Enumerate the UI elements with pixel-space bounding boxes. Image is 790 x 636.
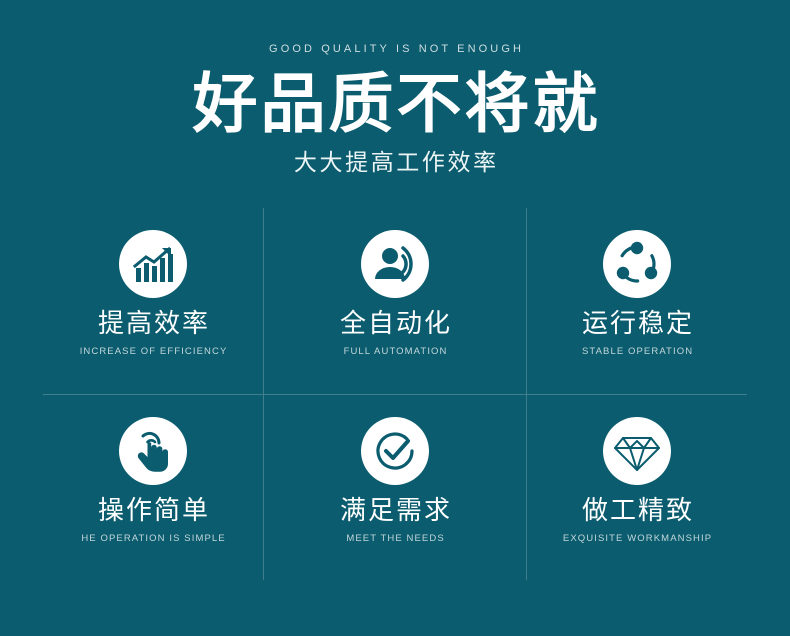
feature-subtitle: MEET THE NEEDS [264, 534, 526, 544]
feature-title: 满足需求 [264, 498, 526, 524]
feature-title: 操作简单 [43, 498, 263, 524]
feature-subtitle: EXQUISITE WORKMANSHIP [527, 534, 747, 544]
check-circle-icon [361, 417, 429, 485]
feature-subtitle: STABLE OPERATION [527, 347, 747, 357]
feature-title: 提高效率 [43, 311, 263, 337]
feature-subtitle: INCREASE OF EFFICIENCY [43, 347, 263, 357]
diamond-icon [603, 417, 671, 485]
page-title: 好品质不将就 [0, 72, 790, 138]
page-subtitle: 大大提高工作效率 [0, 152, 790, 175]
feature-item-stable-operation: 运行稳定 STABLE OPERATION [527, 208, 747, 394]
feature-grid: 提高效率 INCREASE OF EFFICIENCY 全自动化 FULL AU… [43, 208, 747, 580]
feature-subtitle: FULL AUTOMATION [264, 347, 526, 357]
feature-subtitle: HE OPERATION IS SIMPLE [43, 534, 263, 544]
feature-title: 运行稳定 [527, 311, 747, 337]
feature-item-full-automation: 全自动化 FULL AUTOMATION [264, 208, 526, 394]
eyebrow-text: GOOD QUALITY IS NOT ENOUGH [0, 44, 790, 55]
bar-chart-growth-icon [119, 230, 187, 298]
feature-title: 全自动化 [264, 311, 526, 337]
feature-item-increase-of-efficiency: 提高效率 INCREASE OF EFFICIENCY [43, 208, 263, 394]
feature-item-exquisite-workmanship: 做工精致 EXQUISITE WORKMANSHIP [527, 395, 747, 581]
banner-header: GOOD QUALITY IS NOT ENOUGH 好品质不将就 大大提高工作… [0, 0, 790, 175]
user-automation-icon [361, 230, 429, 298]
feature-title: 做工精致 [527, 498, 747, 524]
promo-banner: GOOD QUALITY IS NOT ENOUGH 好品质不将就 大大提高工作… [0, 0, 790, 636]
feature-item-meet-the-needs: 满足需求 MEET THE NEEDS [264, 395, 526, 581]
feature-item-operation-is-simple: 操作简单 HE OPERATION IS SIMPLE [43, 395, 263, 581]
tap-hand-icon [119, 417, 187, 485]
network-nodes-icon [603, 230, 671, 298]
